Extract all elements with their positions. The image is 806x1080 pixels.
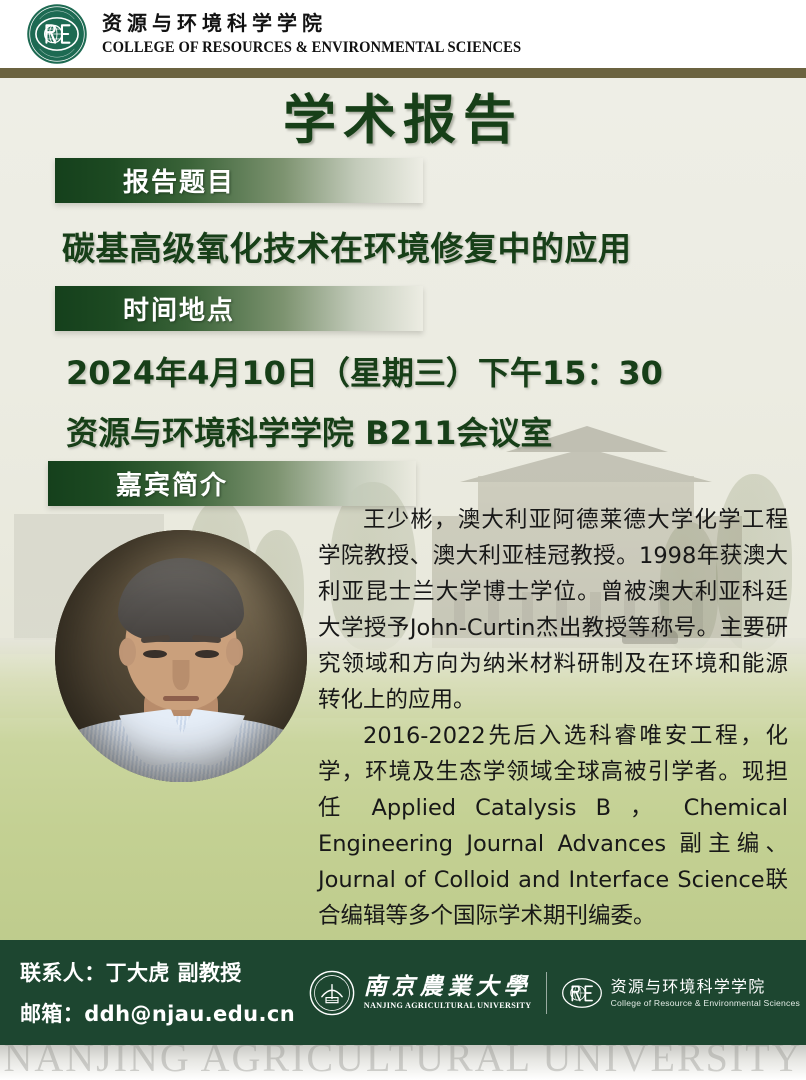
header-titles: 资源与环境科学学院 COLLEGE OF RESOURCES & ENVIRON… bbox=[102, 11, 548, 57]
footer-logo-divider bbox=[546, 972, 547, 1014]
college-en-name: College of Resource & Environmental Scie… bbox=[611, 998, 800, 1008]
page-title: 学术报告 bbox=[0, 92, 806, 150]
poster-root: 资源与环境科学学院 COLLEGE OF RESOURCES & ENVIRON… bbox=[0, 0, 806, 1080]
section-label-topic-text: 报告题目 bbox=[123, 162, 235, 199]
header-cn-name: 资源与环境科学学院 bbox=[102, 11, 548, 36]
college-logo: 资源与环境科学学院 College of Resource & Environm… bbox=[561, 972, 800, 1014]
section-label-time-place-text: 时间地点 bbox=[123, 290, 235, 327]
college-logo-text: 资源与环境科学学院 College of Resource & Environm… bbox=[611, 977, 800, 1008]
section-label-topic: 报告题目 bbox=[55, 158, 423, 203]
section-label-speaker-text: 嘉宾简介 bbox=[116, 465, 228, 502]
njau-logo-text: 南京農業大學 NANJING AGRICULTURAL UNIVERSITY bbox=[364, 975, 532, 1010]
page-footer: 联系人：丁大虎 副教授 邮箱：ddh@njau.edu.cn 南京農業大學 NA… bbox=[0, 940, 806, 1045]
page-header: 资源与环境科学学院 COLLEGE OF RESOURCES & ENVIRON… bbox=[0, 0, 806, 68]
event-datetime: 2024年4月10日（星期三）下午15：30 bbox=[66, 348, 663, 394]
talk-title: 碳基高级氧化技术在环境修复中的应用 bbox=[62, 222, 632, 270]
event-venue: 资源与环境科学学院 B211会议室 bbox=[66, 408, 552, 454]
portrait-vignette bbox=[55, 530, 307, 782]
speaker-bio-paragraph: 王少彬，澳大利亚阿德莱德大学化学工程学院教授、澳大利亚桂冠教授。1998年获澳大… bbox=[318, 502, 788, 718]
njau-emblem-icon bbox=[309, 970, 355, 1016]
speaker-bio: 王少彬，澳大利亚阿德莱德大学化学工程学院教授、澳大利亚桂冠教授。1998年获澳大… bbox=[318, 502, 788, 934]
re-college-emblem-icon bbox=[26, 3, 88, 65]
contact-person: 联系人：丁大虎 副教授 bbox=[20, 957, 295, 987]
contact-email: 邮箱：ddh@njau.edu.cn bbox=[20, 998, 295, 1028]
header-divider-rule bbox=[0, 68, 806, 78]
section-label-time-place: 时间地点 bbox=[55, 286, 423, 331]
college-cn-name: 资源与环境科学学院 bbox=[611, 977, 800, 996]
re-college-emblem-icon bbox=[561, 972, 603, 1014]
footer-logos: 南京農業大學 NANJING AGRICULTURAL UNIVERSITY 资… bbox=[309, 970, 800, 1016]
section-label-speaker: 嘉宾简介 bbox=[48, 461, 416, 506]
speaker-portrait bbox=[55, 530, 307, 782]
njau-en-name: NANJING AGRICULTURAL UNIVERSITY bbox=[364, 1001, 532, 1010]
njau-cn-name: 南京農業大學 bbox=[364, 975, 532, 999]
njau-logo: 南京農業大學 NANJING AGRICULTURAL UNIVERSITY bbox=[309, 970, 532, 1016]
speaker-bio-paragraph: 2016-2022先后入选科睿唯安工程，化学，环境及生态学领域全球高被引学者。现… bbox=[318, 718, 788, 934]
contact-block: 联系人：丁大虎 副教授 邮箱：ddh@njau.edu.cn bbox=[20, 957, 295, 1028]
header-en-name: COLLEGE OF RESOURCES & ENVIRONMENTAL SCI… bbox=[102, 39, 521, 57]
